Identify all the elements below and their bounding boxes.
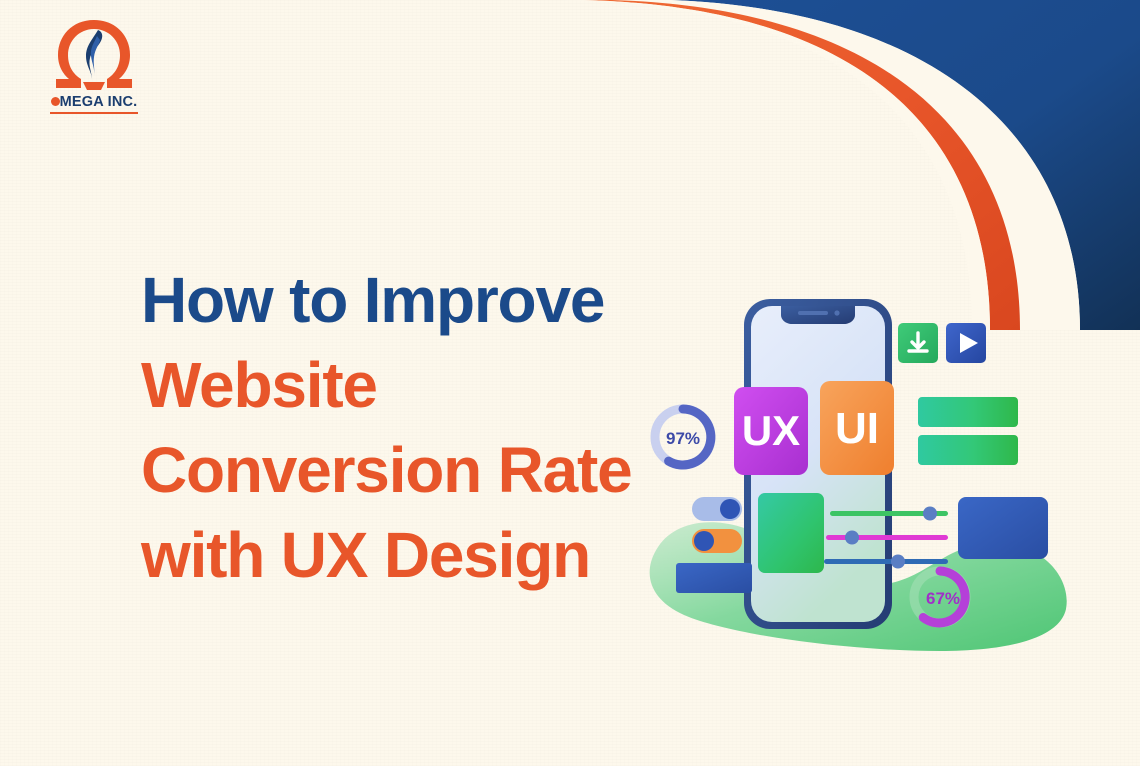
donut-97-label: 97% <box>666 429 700 448</box>
ui-card-label: UI <box>835 404 879 453</box>
headline-line-2: Website <box>141 343 701 428</box>
toggle-switch-orange[interactable] <box>692 529 742 553</box>
logo-underline <box>50 112 138 114</box>
progress-donut-97: 97% <box>655 409 711 465</box>
ux-card: UX <box>734 387 808 475</box>
ux-ui-design-illustration: UX UI 97% <box>640 285 1080 655</box>
page-title: How to Improve Website Conversion Rate w… <box>141 258 701 598</box>
ui-card: UI <box>820 381 894 475</box>
omega-lamp-icon <box>48 16 140 94</box>
play-icon[interactable] <box>946 323 986 363</box>
brand-name-text: MEGA INC. <box>60 94 138 110</box>
navy-swoosh <box>670 0 1140 330</box>
blue-bar-left <box>676 563 752 593</box>
orange-dot-icon <box>51 97 60 106</box>
ux-card-label: UX <box>742 407 800 454</box>
toggle-switch-on[interactable] <box>692 497 742 521</box>
download-icon[interactable] <box>898 323 938 363</box>
green-bar-top <box>918 397 1018 427</box>
brand-logo[interactable]: MEGA INC. <box>48 16 140 112</box>
poster-canvas: MEGA INC. How to Improve Website Convers… <box>0 0 1140 766</box>
green-square-block <box>758 493 824 573</box>
headline-line-4: with UX Design <box>141 513 701 598</box>
headline-line-3: Conversion Rate <box>141 428 701 513</box>
green-bar-bottom <box>918 435 1018 465</box>
donut-67-label: 67% <box>926 589 960 608</box>
headline-line-1: How to Improve <box>141 258 701 343</box>
blue-card-right <box>958 497 1048 559</box>
brand-name: MEGA INC. <box>48 94 140 110</box>
